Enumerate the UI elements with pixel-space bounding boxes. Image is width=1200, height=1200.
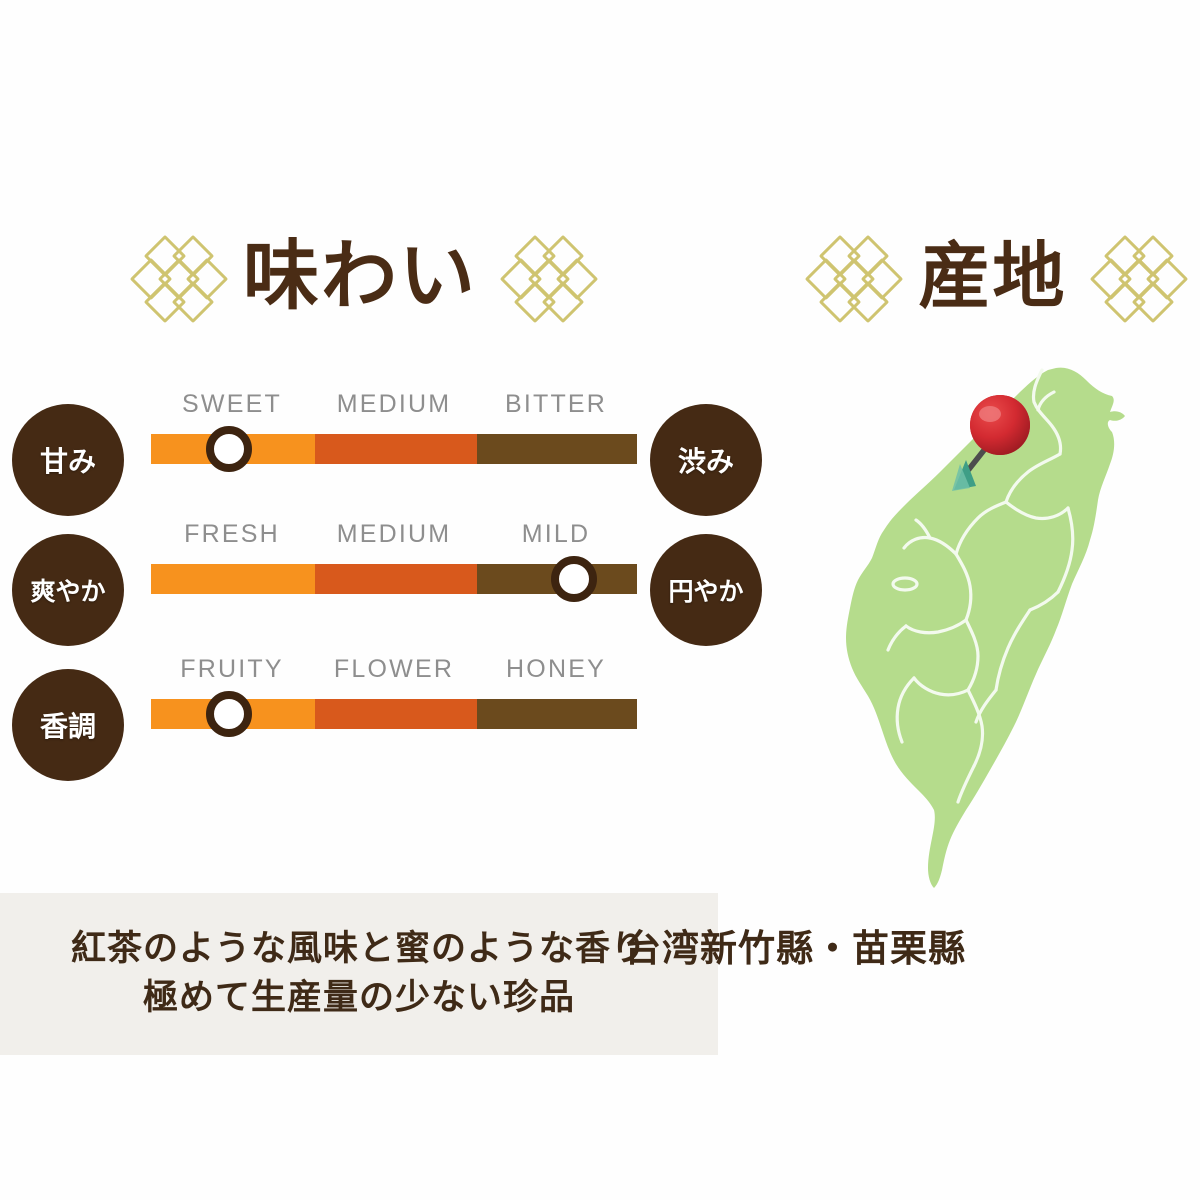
taste-row-left-label: 香調 bbox=[12, 669, 124, 781]
track-segment-2 bbox=[315, 434, 477, 464]
origin-section-title: 産地 bbox=[795, 218, 1190, 333]
origin-panel bbox=[790, 360, 1200, 1000]
taste-title-text: 味わい bbox=[243, 238, 477, 314]
taiwan-map-icon bbox=[810, 360, 1160, 890]
taste-slider-knob[interactable] bbox=[551, 556, 597, 602]
scale-label: FRESH bbox=[151, 520, 313, 554]
caption-line-2: 極めて生産量の少ない珍品 bbox=[143, 976, 575, 1022]
tea-profile-infographic: 味わい 産地 甘み SWEET MEDIUM BITTER bbox=[0, 0, 1200, 1200]
taste-row-right-label: 円やか bbox=[650, 534, 762, 646]
track-segment-3 bbox=[477, 699, 637, 729]
track-segment-3 bbox=[477, 434, 637, 464]
diamond-lattice-ornament-icon bbox=[1093, 237, 1177, 315]
taste-row-left-label: 爽やか bbox=[12, 534, 124, 646]
taste-row-right-label: 渋み bbox=[650, 404, 762, 516]
track-segment-2 bbox=[315, 699, 477, 729]
taste-scale-labels: FRUITY FLOWER HONEY bbox=[151, 655, 637, 689]
taste-row-freshness: 爽やか FRESH MEDIUM MILD 円やか bbox=[0, 520, 790, 655]
taste-slider-knob[interactable] bbox=[206, 691, 252, 737]
taste-row-left-label: 甘み bbox=[12, 404, 124, 516]
taste-row-sweetness: 甘み SWEET MEDIUM BITTER 渋み bbox=[0, 390, 790, 525]
diamond-lattice-ornament-icon bbox=[808, 237, 892, 315]
scale-label: FLOWER bbox=[313, 655, 475, 689]
scale-label: FRUITY bbox=[151, 655, 313, 689]
track-segment-2 bbox=[315, 564, 477, 594]
scale-label: MILD bbox=[475, 520, 637, 554]
scale-label: MEDIUM bbox=[313, 520, 475, 554]
taste-scale-labels: FRESH MEDIUM MILD bbox=[151, 520, 637, 554]
scale-label: BITTER bbox=[475, 390, 637, 424]
taste-row-aroma: 香調 FRUITY FLOWER HONEY bbox=[0, 655, 790, 790]
taste-slider-panel: 甘み SWEET MEDIUM BITTER 渋み 爽やか FRESH MEDI… bbox=[0, 380, 790, 810]
scale-label: HONEY bbox=[475, 655, 637, 689]
diamond-lattice-ornament-icon bbox=[133, 237, 217, 315]
scale-label: SWEET bbox=[151, 390, 313, 424]
origin-title-text: 産地 bbox=[918, 240, 1066, 312]
scale-label: MEDIUM bbox=[313, 390, 475, 424]
origin-label: 台湾新竹縣・苗栗縣 bbox=[390, 918, 1200, 972]
diamond-lattice-ornament-icon bbox=[503, 237, 587, 315]
taste-slider-knob[interactable] bbox=[206, 426, 252, 472]
taste-section-title: 味わい bbox=[95, 218, 625, 333]
track-segment-1 bbox=[151, 564, 315, 594]
taste-scale-labels: SWEET MEDIUM BITTER bbox=[151, 390, 637, 424]
